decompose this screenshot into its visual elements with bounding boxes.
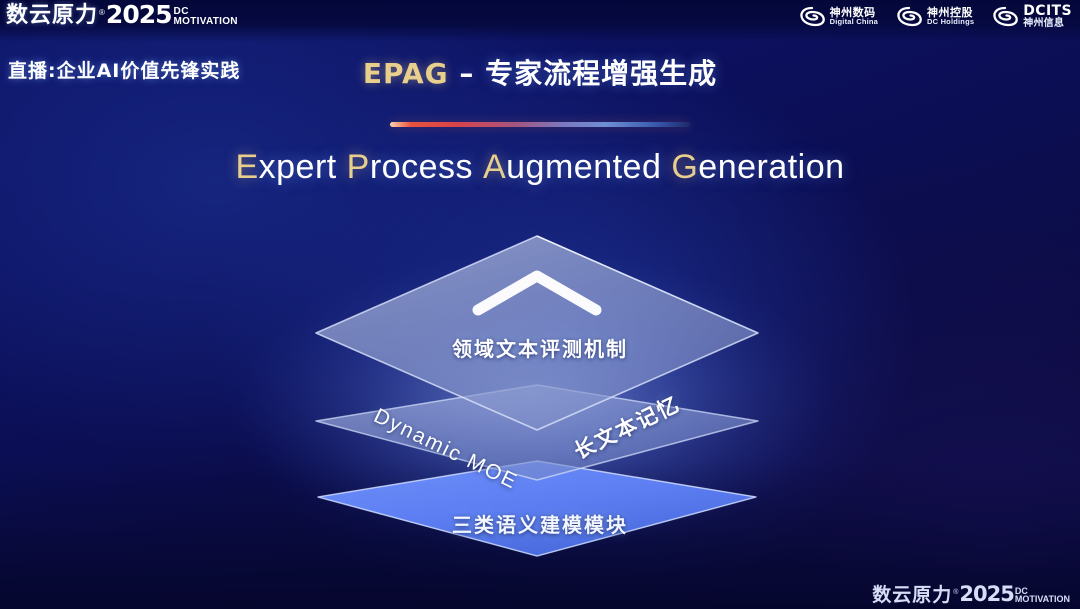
layer-bottom-label: 三类语义建模模块 (0, 509, 1080, 538)
event-logo-dc-line2: MOTIVATION (174, 17, 238, 27)
swirl-icon (799, 6, 825, 28)
slide-title-acronym: EPAG (363, 57, 449, 90)
layer-top-label: 领域文本评测机制 (0, 333, 1080, 362)
slide-title-cn: 专家流程增强生成 (485, 57, 717, 90)
subtitle-cap-4: G (671, 148, 698, 186)
watermark-year: 2025 (959, 584, 1013, 605)
registered-mark: ® (99, 8, 105, 17)
chevron-up-icon (470, 268, 604, 318)
subtitle-rest-1: xpert (259, 148, 337, 186)
swirl-icon (896, 6, 922, 28)
subtitle-rest-3: ugmented (506, 148, 661, 186)
subtitle-rest-4: eneration (698, 148, 844, 186)
watermark-cn: 数云原力 (872, 586, 952, 605)
watermark-dc-line2: MOTIVATION (1015, 595, 1070, 604)
partner-logo-group: 神州数码 Digital China 神州控股 DC Holdings DCIT… (799, 4, 1072, 29)
subtitle-cap-2: P (347, 148, 370, 186)
partner-logo-digital-china: 神州数码 Digital China (799, 6, 878, 28)
slide-background: 数云原力 ® 2025 DC MOTIVATION 直播:企业AI价值先锋实践 … (0, 0, 1080, 609)
partner-logo-dc-holdings: 神州控股 DC Holdings (896, 6, 974, 28)
event-logo: 数云原力 ® 2025 DC MOTIVATION (6, 2, 238, 27)
gradient-divider (390, 122, 690, 127)
swirl-icon (992, 6, 1018, 28)
subtitle-cap-3: A (483, 148, 506, 186)
slide-subtitle: Expert Process Augmented Generation (0, 148, 1080, 187)
footer-watermark-logo: 数云原力 ® 2025 DC MOTIVATION (872, 584, 1070, 605)
partner-name-en: Digital China (830, 18, 878, 26)
partner-name-cn: DCITS (1023, 4, 1072, 19)
watermark-dc: DC MOTIVATION (1015, 587, 1070, 604)
partner-text: DCITS 神州信息 (1023, 4, 1072, 29)
slide-title-dash: – (449, 57, 486, 90)
partner-name-en: 神州信息 (1023, 19, 1072, 30)
partner-name-en: DC Holdings (927, 18, 974, 26)
partner-logo-dcits: DCITS 神州信息 (992, 4, 1072, 29)
event-logo-year: 2025 (106, 2, 172, 27)
partner-text: 神州数码 Digital China (830, 7, 878, 26)
subtitle-cap-1: E (235, 148, 258, 186)
watermark-registered-mark: ® (953, 589, 958, 596)
partner-text: 神州控股 DC Holdings (927, 7, 974, 26)
live-banner: 直播:企业AI价值先锋实践 (8, 56, 240, 83)
event-logo-cn: 数云原力 (6, 5, 98, 27)
subtitle-rest-2: rocess (370, 148, 473, 186)
event-logo-dc: DC MOTIVATION (174, 7, 238, 26)
